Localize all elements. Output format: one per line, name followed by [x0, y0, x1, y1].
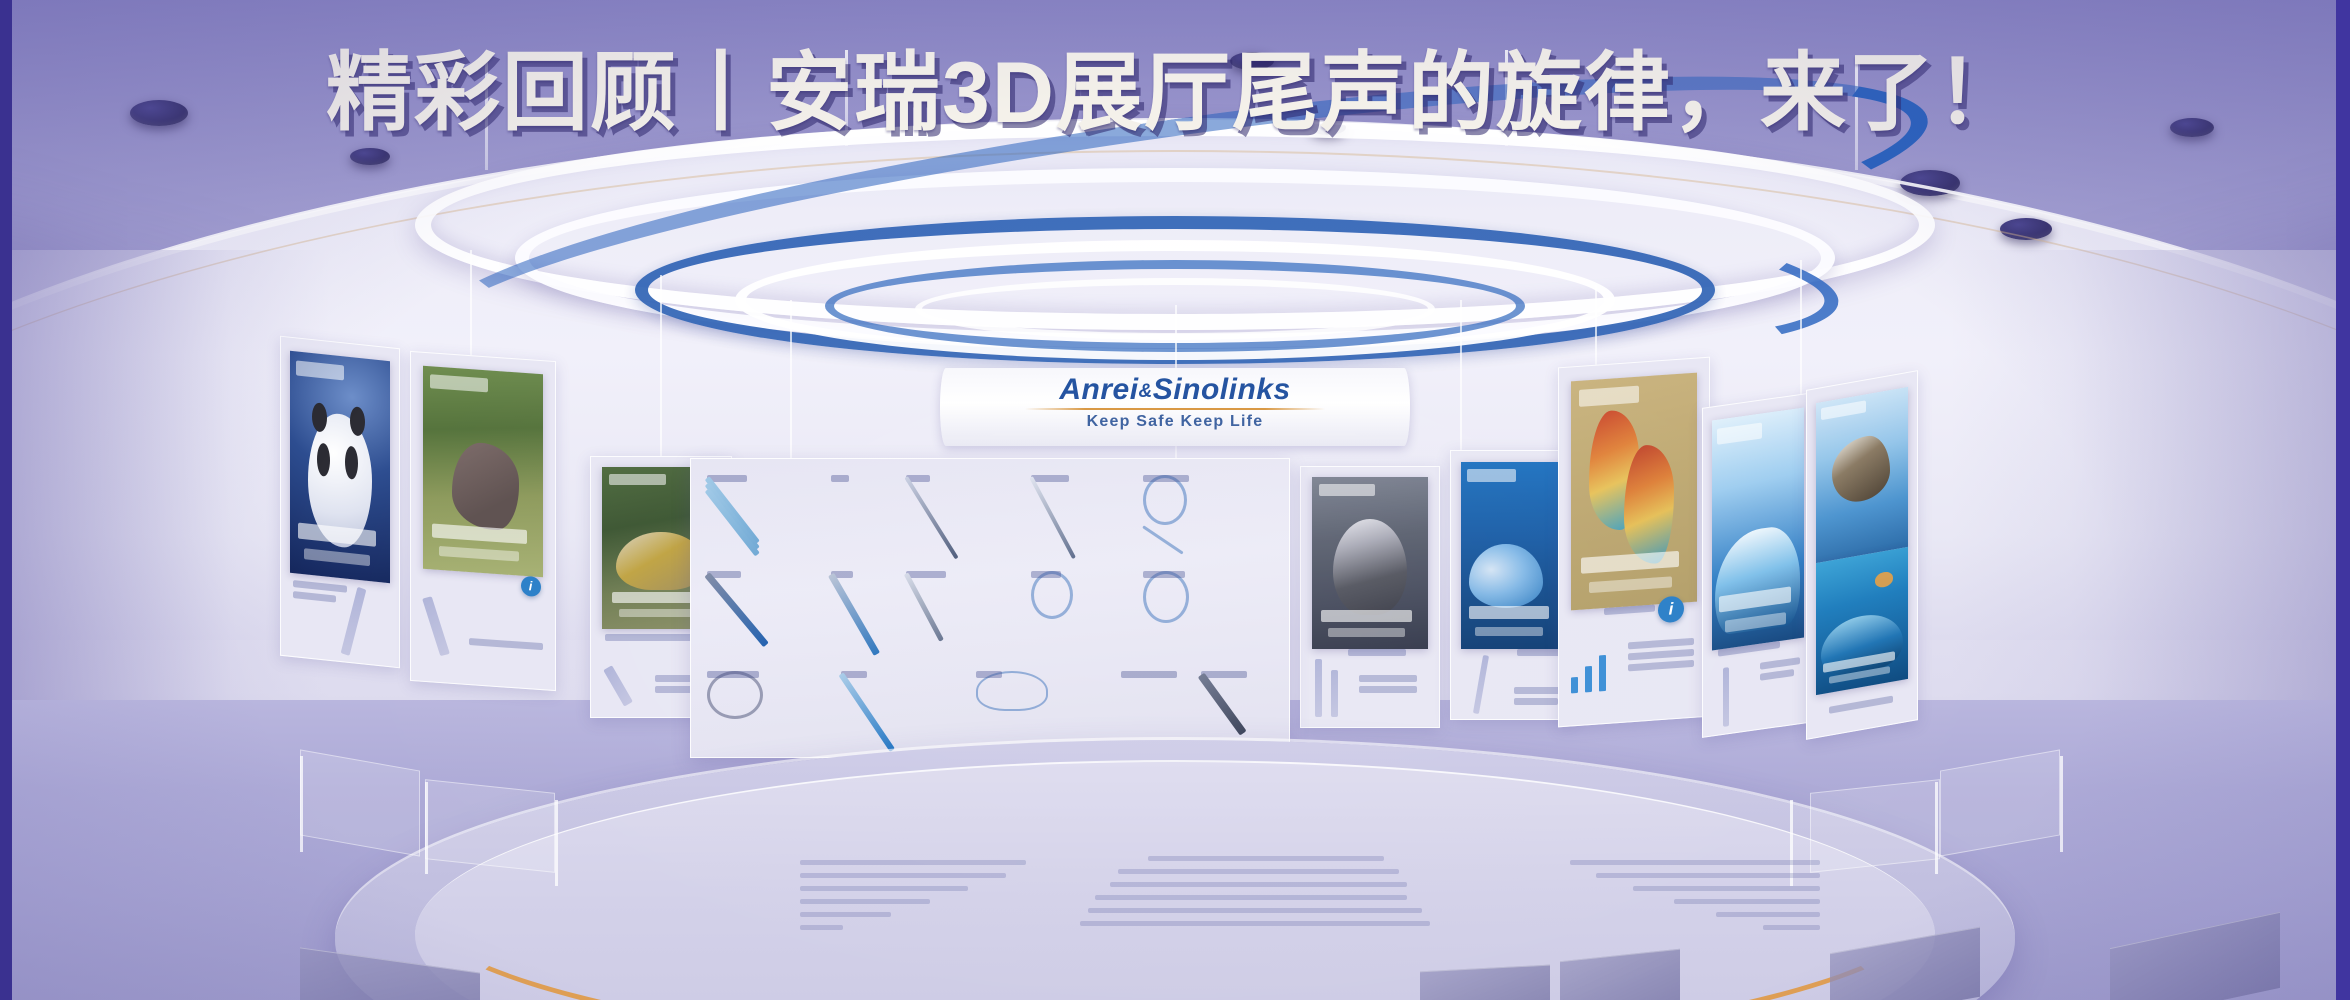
floor-text-right [1560, 860, 1820, 938]
poster-caption-line-1 [1321, 610, 1411, 622]
brand-logo-ampersand: & [1139, 381, 1153, 402]
balustrade-panel-3 [1810, 779, 1940, 873]
instrument-cell[interactable] [1201, 671, 1281, 751]
instrument-cell[interactable] [707, 571, 817, 659]
left-border-strip [0, 0, 12, 1000]
floor-text-center [1080, 856, 1460, 934]
balustrade-post-6 [2060, 756, 2063, 852]
balustrade-post-1 [300, 756, 303, 852]
instrument-shaft [828, 573, 880, 656]
balustrade-post-3 [555, 800, 558, 886]
instrument-label [1143, 571, 1185, 578]
badger-figure [1333, 519, 1407, 615]
brand-logo-sinolinks: Sinolinks [1153, 373, 1291, 406]
panda-poster-image [290, 351, 389, 584]
instrument-cell[interactable] [841, 671, 961, 751]
frog-panel-device [604, 665, 633, 706]
instrument-label [976, 671, 1002, 678]
bird-panel-chart [1571, 651, 1606, 693]
instrument-coil [1143, 475, 1187, 525]
poster-caption-line-2 [1475, 627, 1543, 636]
instrument-coil [1031, 571, 1073, 619]
brand-tagline: Keep Safe Keep Life [940, 413, 1410, 431]
poster-brand-tag [1467, 469, 1516, 482]
instrument-label [1031, 475, 1069, 482]
panda-ear-right [350, 406, 365, 436]
badger-panel-device-1 [1315, 659, 1322, 716]
instrument-label [1031, 571, 1061, 578]
instrument-shaft [705, 488, 760, 556]
instrument-cell[interactable] [707, 671, 827, 751]
bird-figure-2 [1624, 443, 1674, 566]
badger-poster-image [1312, 477, 1428, 649]
instrument-label [906, 571, 946, 578]
instrument-cell[interactable] [1031, 571, 1141, 659]
kangaroo-poster[interactable]: i [410, 351, 556, 691]
brand-logo-banner: Anrei&Sinolinks Keep Safe Keep Life [940, 368, 1410, 446]
puffer-panel-text [1517, 649, 1563, 660]
panda-ear-left [312, 402, 327, 432]
poster-brand-tag [296, 360, 344, 381]
promo-banner: Anrei&Sinolinks Keep Safe Keep Life [0, 0, 2350, 1000]
eagle-panel-text [1829, 696, 1893, 718]
page-title: 精彩回顾丨安瑞3D展厅尾声的旋律，来了！ [0, 22, 2350, 147]
instrument-tail [1142, 525, 1183, 554]
floor-text-left [800, 860, 1040, 938]
kangaroo-figure [452, 441, 520, 531]
poster-brand-tag [1717, 423, 1761, 445]
instrument-shaft [904, 476, 958, 560]
bird-panel-text-2 [1628, 638, 1694, 676]
instrument-cell[interactable] [976, 671, 1116, 751]
instrument-label [1121, 671, 1177, 678]
instrument-cell[interactable] [707, 475, 817, 563]
badger-poster[interactable] [1300, 466, 1440, 728]
floor-step-block-2 [1420, 965, 1550, 1000]
brand-logo-text: Anrei&Sinolinks [940, 374, 1410, 406]
panda-panel-text [293, 580, 347, 608]
puffer-poster-image [1461, 462, 1563, 650]
poster-brand-tag [1319, 484, 1375, 496]
puffer-panel-text-2 [1514, 687, 1563, 709]
brand-logo-rule [1025, 408, 1325, 410]
badger-panel-text-2 [1359, 675, 1417, 697]
puffer-panel-device [1473, 655, 1489, 714]
poster-brand-tag [430, 375, 488, 393]
eagle-poster[interactable] [1806, 370, 1918, 740]
brand-logo-anrei: Anrei [1059, 373, 1138, 406]
instrument-shaft [1198, 673, 1247, 736]
ocean-sun [1875, 571, 1893, 589]
instrument-label [1143, 475, 1189, 482]
bird-poster[interactable]: i [1558, 357, 1710, 728]
ice-poster[interactable] [1702, 392, 1814, 738]
puffer-poster[interactable] [1450, 450, 1574, 720]
instrument-label [831, 475, 849, 482]
instrument-shaft [839, 672, 895, 752]
info-badge: i [1658, 596, 1684, 624]
poster-caption-line-1 [432, 523, 526, 544]
instrument-shaft [904, 572, 944, 641]
eagle-poster-image [1816, 387, 1908, 563]
instrument-label [707, 671, 759, 678]
instrument-board[interactable] [690, 458, 1290, 758]
poster-caption-line-2 [619, 609, 697, 617]
balustrade-panel-2 [425, 779, 555, 873]
badger-panel-text [1348, 649, 1406, 660]
panda-poster[interactable] [280, 336, 400, 669]
badger-panel-device-2 [1331, 670, 1338, 717]
poster-brand-tag [609, 474, 665, 485]
instrument-cell[interactable] [906, 475, 1026, 563]
instrument-coil [707, 671, 763, 719]
right-border-strip [2336, 0, 2350, 1000]
poster-caption-line-1 [1469, 606, 1549, 619]
poster-brand-tag [1821, 401, 1865, 420]
instrument-cell[interactable] [906, 571, 1026, 659]
instrument-cell[interactable] [1143, 475, 1273, 563]
bird-panel-text [1604, 605, 1655, 620]
instrument-coil [1143, 571, 1189, 623]
poster-caption-line-2 [1328, 628, 1404, 637]
kangaroo-panel-device [422, 596, 450, 656]
instrument-shaft [704, 572, 768, 647]
instrument-cell[interactable] [1031, 475, 1141, 563]
poster-caption-line-2 [304, 548, 369, 566]
ocean-poster-image [1816, 547, 1908, 696]
instrument-shaft [1029, 476, 1076, 559]
ice-panel-device [1723, 667, 1730, 727]
poster-caption-line-2 [1589, 576, 1672, 593]
poster-caption-line-1 [1581, 551, 1679, 574]
kangaroo-panel-text [469, 638, 544, 654]
panda-eye-right [345, 445, 358, 480]
ice-poster-image [1712, 408, 1804, 651]
poster-brand-tag [1579, 386, 1639, 406]
kangaroo-poster-image [423, 366, 544, 578]
balustrade-post-2 [425, 782, 428, 874]
puffer-wave [1469, 544, 1543, 608]
eagle-figure [1832, 432, 1889, 506]
balustrade-post-5 [1935, 782, 1938, 874]
instrument-cell[interactable] [1143, 571, 1273, 659]
bird-poster-image [1571, 373, 1697, 611]
instrument-cell[interactable] [1121, 671, 1201, 751]
poster-caption-line-2 [439, 546, 519, 562]
info-badge: i [521, 576, 541, 597]
ice-panel-text-2 [1760, 658, 1800, 686]
